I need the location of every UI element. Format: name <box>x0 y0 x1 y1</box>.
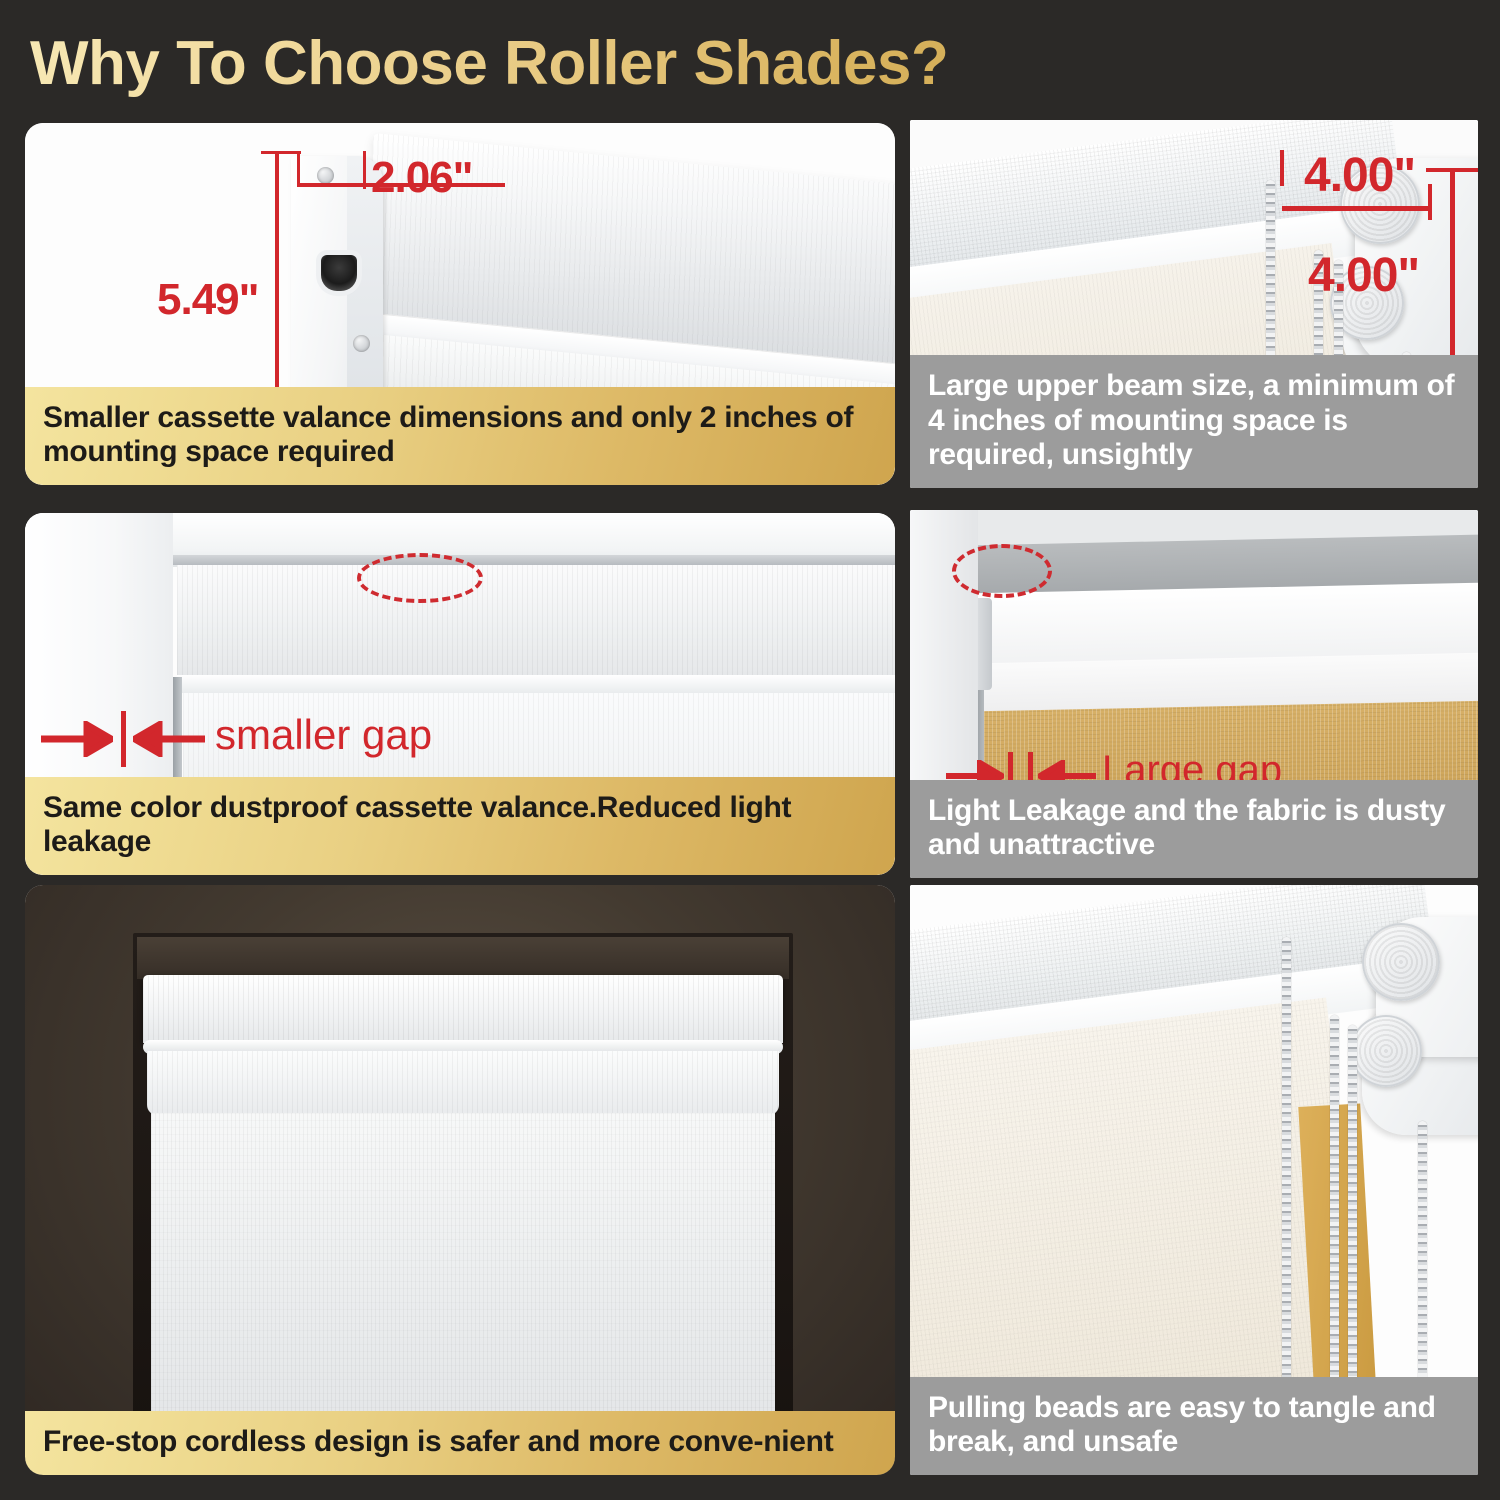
width-dimension-tick-right <box>1428 184 1432 220</box>
gap-arrow-left-icon <box>41 721 113 757</box>
panel-3-caption: Same color dustproof cassette valance.Re… <box>25 777 895 875</box>
height-dimension-tick-top <box>261 151 301 154</box>
width-dimension-line <box>1282 206 1432 211</box>
panel-smaller-gap: smaller gap Same color dustproof cassett… <box>25 513 895 875</box>
bead-chain-shape <box>1282 937 1291 1437</box>
panel-cordless-design: Free-stop cordless design is safer and m… <box>25 885 895 1475</box>
bead-chain-shape <box>1348 1025 1357 1437</box>
height-dimension-line <box>1450 168 1455 368</box>
panel-2-caption: Large upper beam size, a minimum of 4 in… <box>910 355 1478 488</box>
width-dimension-label: 2.06" <box>371 153 473 203</box>
height-dimension-label: 4.00" <box>1308 248 1419 303</box>
screw-icon <box>317 167 334 184</box>
height-dimension-label: 5.49" <box>157 275 259 325</box>
cassette-roller-shape <box>147 1051 779 1115</box>
width-dimension-label: 4.00" <box>1304 148 1415 203</box>
panel-1-caption: Smaller cassette valance dimensions and … <box>25 387 895 485</box>
roller-disc-shape <box>1362 923 1440 1001</box>
gap-tick <box>121 711 126 767</box>
shade-mid-rail <box>177 675 895 693</box>
room-window-photo <box>25 885 895 1475</box>
shade-fabric-shape <box>151 1113 775 1443</box>
panel-smaller-cassette: 2.06" 5.49" Smaller cassette valance dim… <box>25 123 895 485</box>
highlight-ellipse-icon <box>952 544 1052 598</box>
height-dimension-tick-top <box>1426 168 1478 172</box>
panel-4-caption: Light Leakage and the fabric is dusty an… <box>910 780 1478 878</box>
width-dimension-tick-left <box>1280 150 1284 186</box>
width-dimension-tick-right <box>363 151 366 189</box>
cassette-slot-shape <box>321 255 357 291</box>
bead-chain-shape <box>1330 1015 1339 1437</box>
gap-arrow-right-icon <box>133 721 205 757</box>
shade-upper-panel <box>177 565 895 675</box>
panel-5-caption: Free-stop cordless design is safer and m… <box>25 1411 895 1475</box>
panel-large-gap: Large gap Light Leakage and the fabric i… <box>910 510 1478 878</box>
cassette-valance-shape <box>143 975 783 1043</box>
panel-pulling-beads: Pulling beads are easy to tangle and bre… <box>910 885 1478 1475</box>
window-frame-inner-edge <box>155 555 895 565</box>
width-dimension-tick-left <box>297 151 300 187</box>
page-title: Why To Choose Roller Shades? <box>30 18 1230 110</box>
gap-label: smaller gap <box>215 711 432 759</box>
panel-large-upper-beam: 4.00" 4.00" Large upper beam size, a min… <box>910 120 1478 488</box>
window-soffit <box>137 937 789 979</box>
window-frame-left <box>25 513 173 813</box>
screw-icon <box>353 335 370 352</box>
highlight-ellipse-icon <box>357 553 483 603</box>
panel-6-caption: Pulling beads are easy to tangle and bre… <box>910 1377 1478 1475</box>
roller-disc-shape <box>1350 1015 1422 1087</box>
